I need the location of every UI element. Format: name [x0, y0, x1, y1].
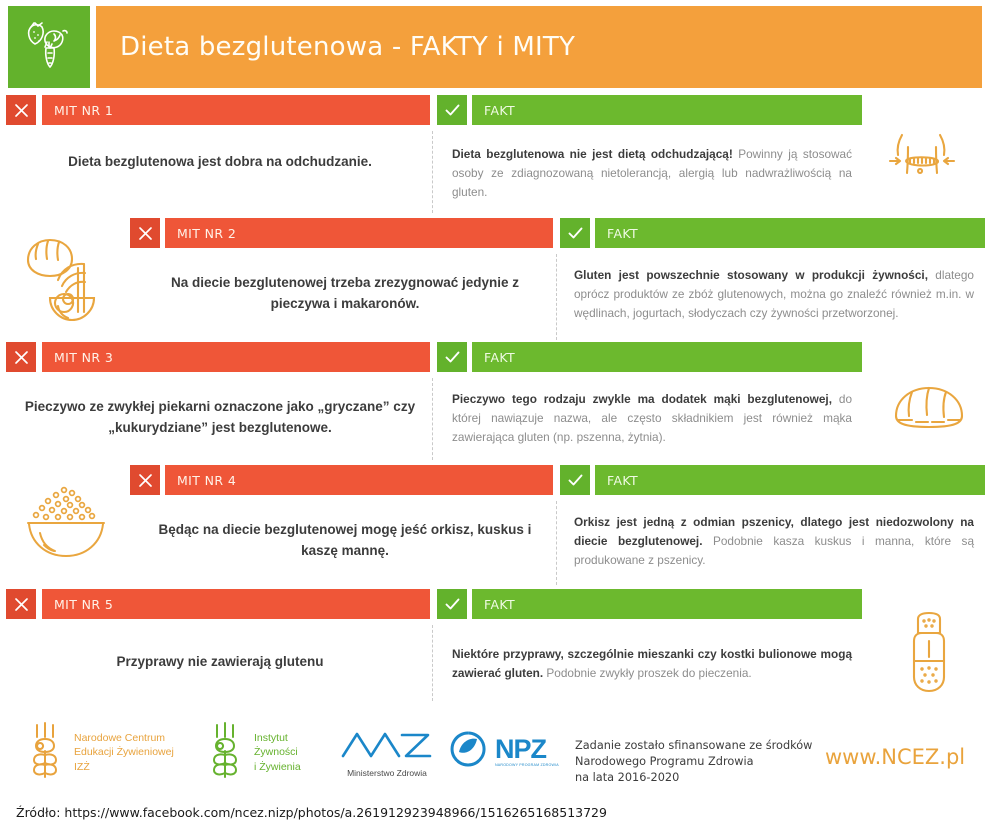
close-icon: [13, 349, 30, 366]
myth-text-2: Na diecie bezglutenowej trzeba zrezygnow…: [145, 273, 545, 315]
row-divider: [556, 501, 557, 585]
header-logo: [8, 6, 90, 88]
logo-npz: NPZ NARODOWY PROGRAM ZDROWIA: [450, 731, 559, 772]
fact-label-4: FAKT: [595, 465, 985, 495]
page-title: Dieta bezglutenowa - FAKTY i MITY: [96, 32, 575, 62]
myth-text-5: Przyprawy nie zawierają glutenu: [20, 652, 420, 673]
fact-label-2: FAKT: [595, 218, 985, 248]
fact-text-3: Pieczywo tego rodzaju zwykle ma dodatek …: [452, 390, 852, 447]
fact-bold-3: Pieczywo tego rodzaju zwykle ma dodatek …: [452, 392, 832, 406]
row-divider: [432, 378, 433, 460]
wheat-ear-icon: [205, 721, 245, 784]
logo-izz: Instytut Żywności i Żywienia: [205, 721, 301, 784]
fact-badge-5: [437, 589, 467, 619]
row-myth-2: MIT NR 2 FAKT Na diecie bezglutenowej tr…: [0, 218, 990, 340]
row-divider: [556, 254, 557, 340]
check-icon: [566, 471, 585, 490]
fact-label-1: FAKT: [472, 95, 862, 125]
mz-zigzag-icon: [340, 748, 434, 765]
npz-text: NPZ NARODOWY PROGRAM ZDROWIA: [495, 736, 559, 767]
close-icon: [13, 102, 30, 119]
logo-ncez-izz: Narodowe Centrum Edukacji Żywieniowej IZ…: [25, 721, 174, 784]
myth-label-5: MIT NR 5: [42, 589, 430, 619]
row-myth-5: MIT NR 5 FAKT Przyprawy nie zawierają gl…: [0, 589, 990, 701]
logo-line: Instytut: [254, 731, 301, 745]
fact-bold-1: Dieta bezglutenowa nie jest dietą odchud…: [452, 147, 733, 161]
myth-text-1: Dieta bezglutenowa jest dobra na odchudz…: [20, 152, 420, 173]
fruits-vegetables-icon: [18, 14, 80, 81]
fact-badge-4: [560, 465, 590, 495]
myth-label-4: MIT NR 4: [165, 465, 553, 495]
website-link[interactable]: www.NCEZ.pl: [825, 745, 965, 769]
myth-label-1: MIT NR 1: [42, 95, 430, 125]
fact-text-1: Dieta bezglutenowa nie jest dietą odchud…: [452, 145, 852, 202]
close-icon: [13, 596, 30, 613]
npz-sub: NARODOWY PROGRAM ZDROWIA: [495, 763, 559, 767]
fact-badge-3: [437, 342, 467, 372]
fact-text-5: Niektóre przyprawy, szczególnie mieszank…: [452, 645, 852, 683]
myth-label-2: MIT NR 2: [165, 218, 553, 248]
npz-icon: [450, 731, 486, 772]
myth-badge-5: [6, 589, 36, 619]
myth-text-4: Będąc na diecie bezglutenowej mogę jeść …: [145, 520, 545, 562]
mz-caption: Ministerstwo Zdrowia: [340, 768, 434, 778]
check-icon: [566, 224, 585, 243]
fact-badge-2: [560, 218, 590, 248]
logo-line: Edukacji Żywieniowej: [74, 745, 174, 759]
fact-text-2: Gluten jest powszechnie stosowany w prod…: [574, 266, 974, 323]
header: Dieta bezglutenowa - FAKTY i MITY: [0, 0, 990, 92]
myth-label-3: MIT NR 3: [42, 342, 430, 372]
waist-measuring-tape-icon: [880, 125, 962, 206]
logo-ncez-text: Narodowe Centrum Edukacji Żywieniowej IZ…: [74, 731, 174, 774]
row-divider: [432, 625, 433, 701]
myth-badge-4: [130, 465, 160, 495]
logo-line: i Żywienia: [254, 760, 301, 774]
logo-ministerstwo-zdrowia: Ministerstwo Zdrowia: [340, 729, 434, 778]
myth-badge-1: [6, 95, 36, 125]
funding-line: na lata 2016-2020: [575, 770, 812, 786]
source-caption: Źródło: https://www.facebook.com/ncez.ni…: [16, 805, 607, 820]
header-title-bar: Dieta bezglutenowa - FAKTY i MITY: [96, 6, 982, 88]
row-divider: [432, 131, 433, 213]
myth-badge-2: [130, 218, 160, 248]
logo-line: IZŻ: [74, 760, 174, 774]
bread-loaf-icon: [890, 380, 968, 443]
myth-badge-3: [6, 342, 36, 372]
check-icon: [443, 101, 462, 120]
fact-text-4: Orkisz jest jedną z odmian pszenicy, dla…: [574, 513, 974, 570]
myth-text-3: Pieczywo ze zwykłej piekarni oznaczone j…: [20, 397, 420, 439]
check-icon: [443, 348, 462, 367]
close-icon: [137, 225, 154, 242]
row-myth-3: MIT NR 3 FAKT Pieczywo ze zwykłej piekar…: [0, 342, 990, 460]
salt-shaker-icon: [898, 611, 960, 702]
footer: Narodowe Centrum Edukacji Żywieniowej IZ…: [0, 705, 990, 800]
npz-label: NPZ: [495, 736, 559, 763]
fact-rest-5: Podobnie zwykły proszek do pieczenia.: [543, 666, 752, 680]
close-icon: [137, 472, 154, 489]
check-icon: [443, 595, 462, 614]
logo-line: Narodowe Centrum: [74, 731, 174, 745]
row-myth-1: MIT NR 1 FAKT Dieta bezglutenowa jest do…: [0, 95, 990, 213]
funding-text: Zadanie zostało sfinansowane ze środków …: [575, 738, 812, 786]
bread-and-noodles-icon: [14, 228, 114, 328]
fact-label-5: FAKT: [472, 589, 862, 619]
funding-line: Zadanie zostało sfinansowane ze środków: [575, 738, 812, 754]
logo-line: Żywności: [254, 745, 301, 759]
fact-label-3: FAKT: [472, 342, 862, 372]
grain-bowl-icon: [20, 477, 112, 566]
logo-izz-text: Instytut Żywności i Żywienia: [254, 731, 301, 774]
wheat-ear-icon: [25, 721, 65, 784]
fact-badge-1: [437, 95, 467, 125]
fact-bold-2: Gluten jest powszechnie stosowany w prod…: [574, 268, 928, 282]
row-myth-4: MIT NR 4 FAKT Będąc na diecie bezgluteno…: [0, 465, 990, 585]
funding-line: Narodowego Programu Zdrowia: [575, 754, 812, 770]
